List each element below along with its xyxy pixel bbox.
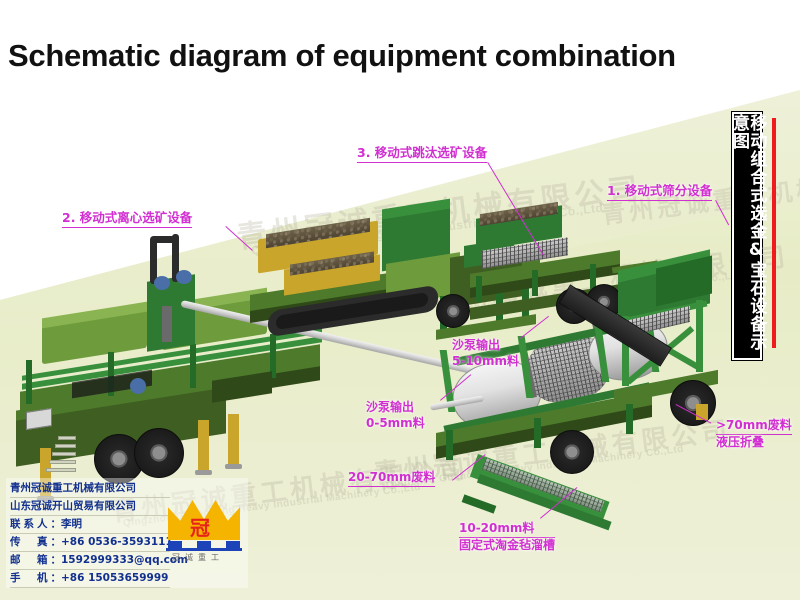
callout-equipment-3-label: 3. 移动式跳汰选矿设备 bbox=[357, 145, 487, 163]
callout-waste-over-70: >70mm废料 液压折叠 bbox=[716, 418, 792, 451]
callout-waste-20-70-line1: 20-70mm废料 bbox=[348, 470, 435, 487]
callout-sand-pump-0-5-line1: 沙泵输出 bbox=[366, 400, 425, 416]
company-info-rows: 青州冠诚重工机械有限公司 山东冠诚开山贸易有限公司 联系人：李明 传 真：+86… bbox=[10, 480, 170, 588]
company-line-0-value: 青州冠诚重工机械有限公司 bbox=[10, 482, 136, 494]
company-line-5-label: 手 机 bbox=[10, 572, 51, 584]
callout-equipment-1-label: 1. 移动式筛分设备 bbox=[607, 183, 712, 201]
logo-base-block-1 bbox=[168, 541, 182, 548]
company-info-card: 青州冠诚重工机械有限公司 山东冠诚开山贸易有限公司 联系人：李明 传 真：+86… bbox=[6, 478, 248, 588]
callout-equipment-2-label: 2. 移动式离心选矿设备 bbox=[62, 210, 192, 228]
company-line-4-label: 邮 箱 bbox=[10, 554, 51, 566]
callout-equipment-3: 3. 移动式跳汰选矿设备 bbox=[357, 145, 487, 163]
company-line-1: 山东冠诚开山贸易有限公司 bbox=[10, 498, 170, 516]
logo-base-block-2 bbox=[197, 541, 211, 548]
company-line-mobile: 手 机：+86 15053659999 bbox=[10, 570, 170, 588]
company-logo: 冠 冠诚重工 bbox=[164, 500, 244, 566]
company-line-contact: 联系人：李明 bbox=[10, 516, 170, 534]
title-banner-vertical: 移动组合式选金&宝石设备示意图 bbox=[732, 112, 762, 360]
company-line-email: 邮 箱：1592999333@qq.com bbox=[10, 552, 170, 570]
logo-caption: 冠诚重工 bbox=[172, 552, 224, 563]
callout-sand-pump-5-10-line1: 沙泵输出 bbox=[452, 338, 519, 354]
callout-sluice-10-20: 10-20mm料 固定式淘金毡溜槽 bbox=[459, 521, 555, 554]
callout-waste-over-70-line1: >70mm废料 bbox=[716, 418, 792, 435]
page-title: Schematic diagram of equipment combinati… bbox=[8, 38, 676, 74]
company-line-1-value: 山东冠诚开山贸易有限公司 bbox=[10, 500, 136, 512]
logo-base-bar bbox=[166, 548, 242, 551]
company-line-fax: 传 真：+86 0536-3593111 bbox=[10, 534, 170, 552]
callout-sand-pump-5-10-line2: 5-10mm料 bbox=[452, 354, 519, 370]
company-line-3-value: ：+86 0536-3593111 bbox=[51, 536, 173, 548]
callout-sluice-10-20-line2: 固定式淘金毡溜槽 bbox=[459, 538, 555, 554]
callout-sand-pump-5-10: 沙泵输出 5-10mm料 bbox=[452, 338, 519, 370]
callout-sand-pump-0-5: 沙泵输出 0-5mm料 bbox=[366, 400, 425, 432]
callout-waste-20-70: 20-70mm废料 bbox=[348, 470, 435, 487]
callout-equipment-1: 1. 移动式筛分设备 bbox=[607, 183, 712, 201]
company-line-0: 青州冠诚重工机械有限公司 bbox=[10, 480, 170, 498]
callout-equipment-2: 2. 移动式离心选矿设备 bbox=[62, 210, 192, 228]
logo-base bbox=[166, 541, 242, 551]
company-line-5-value: ：+86 15053659999 bbox=[51, 572, 169, 584]
callout-sluice-10-20-line1: 10-20mm料 bbox=[459, 521, 555, 538]
callout-sand-pump-0-5-line2: 0-5mm料 bbox=[366, 416, 425, 432]
company-line-2-value: ：李明 bbox=[51, 518, 83, 530]
logo-base-block-3 bbox=[226, 541, 240, 548]
callout-waste-over-70-line2: 液压折叠 bbox=[716, 435, 792, 451]
diagram-canvas: 青州冠诚重工机械有限公司 Qingzhou Guancheng Heavy In… bbox=[0, 0, 800, 600]
crown-glyph: 冠 bbox=[190, 512, 210, 541]
access-stairs bbox=[46, 432, 80, 480]
company-line-2-label: 联系人 bbox=[10, 518, 51, 530]
company-line-3-label: 传 真 bbox=[10, 536, 51, 548]
banner-accent-rule bbox=[772, 118, 776, 348]
